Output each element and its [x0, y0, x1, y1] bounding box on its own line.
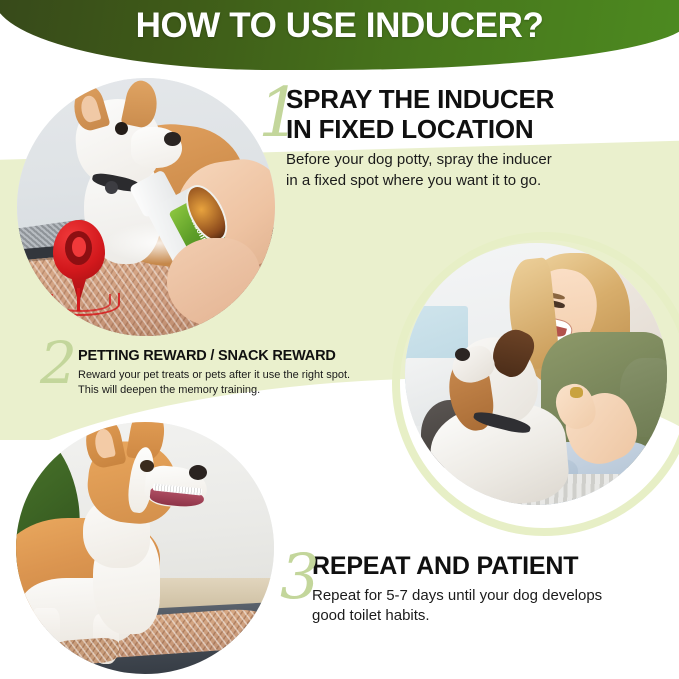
step-2-body-line2: This will deepen the memory training. — [78, 383, 398, 398]
pin-dot — [72, 237, 86, 257]
step-1-title-line2: IN FIXED LOCATION — [286, 114, 666, 144]
corgi-nose — [189, 465, 207, 480]
step-3-body: Repeat for 5-7 days until your dog devel… — [312, 586, 668, 627]
step-3-body-line2: good toilet habits. — [312, 606, 668, 626]
scene-reward — [405, 243, 667, 505]
step-3-number: 3 — [280, 546, 319, 608]
step-2-title: PETTING REWARD / SNACK REWARD — [78, 348, 398, 365]
page-title: HOW TO USE INDUCER? — [0, 8, 679, 45]
pin-signal-wave-inner — [51, 294, 111, 311]
photo-corgi-on-tray — [16, 422, 274, 674]
dog-treat — [570, 387, 583, 397]
step-3-body-line1: Repeat for 5-7 days until your dog devel… — [312, 586, 668, 606]
infographic-poster: HOW TO USE INDUCER? fidof — [0, 0, 679, 679]
location-pin-icon — [53, 220, 105, 297]
step-1-body-line1: Before your dog potty, spray the inducer — [286, 150, 666, 170]
corgi-collar-tag — [105, 181, 118, 194]
scene-repeat — [16, 422, 274, 674]
photo-reward-woman-dog — [405, 243, 667, 505]
step-1-body-line2: in a fixed spot where you want it to go. — [286, 171, 666, 191]
step-2-block: 2 PETTING REWARD / SNACK REWARD Reward y… — [78, 348, 398, 397]
step-2-number: 2 — [40, 334, 77, 392]
step-1-title: SPRAY THE INDUCER IN FIXED LOCATION — [286, 84, 666, 144]
step-3-title: REPEAT AND PATIENT — [312, 552, 668, 581]
step-2-title-line1: PETTING REWARD / SNACK REWARD — [78, 348, 398, 365]
step-3-title-line1: REPEAT AND PATIENT — [312, 552, 668, 581]
step-1-title-line1: SPRAY THE INDUCER — [286, 84, 666, 114]
step-1-body: Before your dog potty, spray the inducer… — [286, 150, 666, 191]
step-2-body: Reward your pet treats or pets after it … — [78, 368, 398, 397]
photo-spray-corgi: fidofiix — [17, 78, 275, 336]
human-hand-lower — [167, 238, 260, 326]
scene-spray: fidofiix — [17, 78, 275, 336]
step-2-body-line1: Reward your pet treats or pets after it … — [78, 368, 398, 383]
step-1-block: 1 SPRAY THE INDUCER IN FIXED LOCATION Be… — [286, 84, 666, 191]
step-3-block: 3 REPEAT AND PATIENT Repeat for 5-7 days… — [312, 552, 668, 626]
step-1-number: 1 — [258, 80, 301, 148]
corgi-eye — [115, 122, 128, 135]
